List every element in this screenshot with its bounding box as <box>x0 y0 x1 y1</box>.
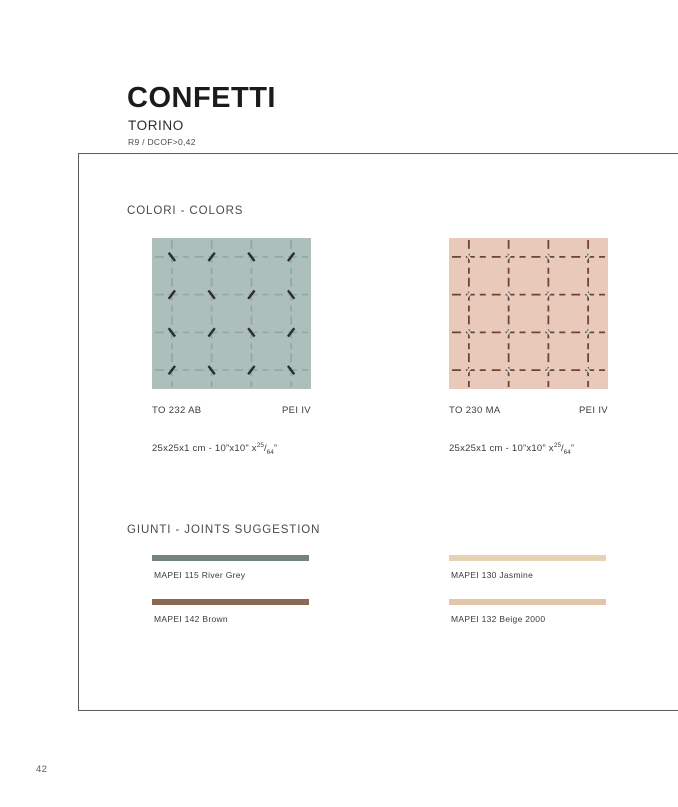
tile-caption-right: TO 230 MA PEI IV <box>449 405 608 416</box>
tile-pattern-left-icon <box>152 238 311 389</box>
tile-size-right-den: 64 <box>564 449 571 456</box>
joints-section-title: GIUNTI - JOINTS SUGGESTION <box>127 524 320 536</box>
tile-size-right-prefix: 25x25x1 cm - 10”x10” x <box>449 443 554 454</box>
page-header: CONFETTI TORINO R9 / DCOF>0,42 <box>127 84 276 146</box>
collection-name: TORINO <box>128 119 276 133</box>
tile-pei-left: PEI IV <box>282 405 311 416</box>
joint-spacer <box>152 580 312 599</box>
tile-code-right: TO 230 MA <box>449 405 501 416</box>
joint-color-bar <box>449 555 606 561</box>
tile-pattern-right-icon <box>449 238 608 389</box>
tile-size-left-suffix: ” <box>274 443 277 454</box>
tile-caption-left: TO 232 AB PEI IV <box>152 405 311 416</box>
joint-color-bar <box>152 599 309 605</box>
content-panel: COLORI - COLORS TO 232 AB PEI IV TO 230 … <box>78 153 678 711</box>
tile-size-right-num: 25 <box>554 442 561 449</box>
joints-column-right: MAPEI 130 Jasmine MAPEI 132 Beige 2000 <box>449 555 609 623</box>
tile-size-right: 25x25x1 cm - 10”x10” x25/64” <box>449 442 574 456</box>
tile-size-left: 25x25x1 cm - 10”x10” x25/64” <box>152 442 277 456</box>
technical-spec: R9 / DCOF>0,42 <box>128 138 276 147</box>
page-title: CONFETTI <box>127 84 276 113</box>
tile-swatch-right <box>449 238 608 389</box>
joint-label: MAPEI 132 Beige 2000 <box>451 615 609 624</box>
joint-color-bar <box>449 599 606 605</box>
tile-code-left: TO 232 AB <box>152 405 201 416</box>
tile-size-right-suffix: ” <box>571 443 574 454</box>
tile-swatch-left <box>152 238 311 389</box>
colors-section-title: COLORI - COLORS <box>127 205 243 217</box>
joint-color-bar <box>152 555 309 561</box>
tile-size-left-prefix: 25x25x1 cm - 10”x10” x <box>152 443 257 454</box>
page-number: 42 <box>36 764 47 775</box>
joint-label: MAPEI 130 Jasmine <box>451 571 609 580</box>
tile-size-left-den: 64 <box>267 449 274 456</box>
tile-size-left-num: 25 <box>257 442 264 449</box>
joint-label: MAPEI 115 River Grey <box>154 571 312 580</box>
joints-column-left: MAPEI 115 River Grey MAPEI 142 Brown <box>152 555 312 623</box>
tile-pei-right: PEI IV <box>579 405 608 416</box>
joint-spacer <box>449 580 609 599</box>
joint-label: MAPEI 142 Brown <box>154 615 312 624</box>
